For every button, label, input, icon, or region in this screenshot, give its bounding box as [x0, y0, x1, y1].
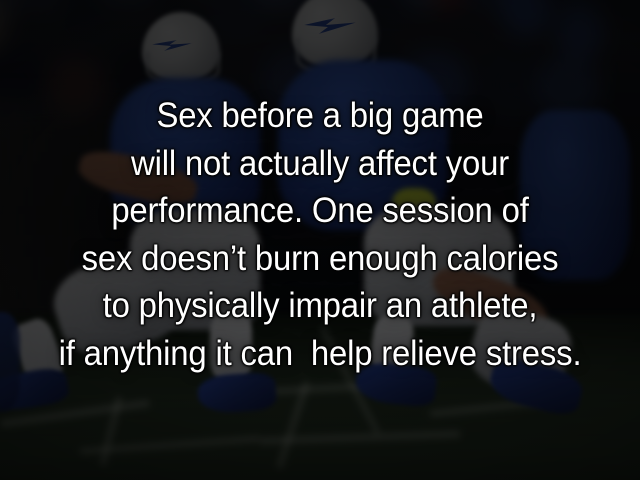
caption-line-5: to physically impair an athlete,: [23, 282, 617, 330]
caption-block: Sex before a big game will not actually …: [0, 92, 640, 377]
caption-line-4: sex doesn’t burn enough calories: [23, 235, 617, 283]
caption-line-1: Sex before a big game: [23, 92, 617, 140]
caption-line-6: if anything it can help relieve stress.: [23, 330, 617, 378]
caption-line-3: performance. One session of: [23, 187, 617, 235]
caption-line-2: will not actually affect your: [23, 140, 617, 188]
meme-image: Sex before a big game will not actually …: [0, 0, 640, 480]
